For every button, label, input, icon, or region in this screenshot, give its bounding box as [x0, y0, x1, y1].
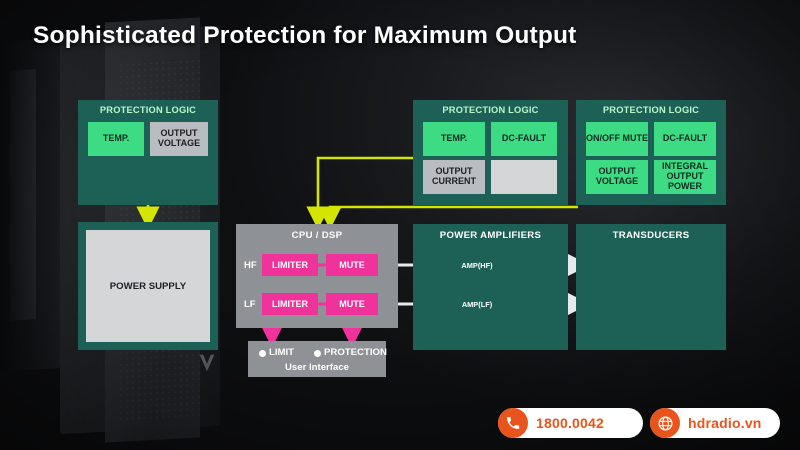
limiter-hf: LIMITER: [262, 254, 318, 276]
protection-indicator-label: PROTECTION: [324, 347, 387, 358]
chip-placeholder: [491, 160, 557, 194]
psu-protection-logic-block: PROTECTION LOGIC TEMP. OUTPUT VOLTAGE: [78, 100, 218, 205]
chip-temp: TEMP.: [423, 122, 485, 156]
user-interface-block: LIMIT PROTECTION User Interface: [248, 341, 386, 377]
chip-dc-fault: DC-FAULT: [491, 122, 557, 156]
website-badge[interactable]: hdradio.vn: [650, 408, 780, 438]
limit-indicator-dot: [259, 350, 266, 357]
phone-icon: [498, 408, 528, 438]
chip-output-current: OUTPUT CURRENT: [423, 160, 485, 194]
power-supply-block: POWER SUPPLY: [78, 222, 218, 350]
chip-dc-fault: DC-FAULT: [654, 122, 716, 156]
protection-logic-title: PROTECTION LOGIC: [78, 105, 218, 115]
power-amplifiers-title: POWER AMPLIFIERS: [413, 230, 568, 241]
limiter-lf: LIMITER: [262, 293, 318, 315]
user-interface-caption: User Interface: [248, 362, 386, 373]
chip-temp: TEMP.: [88, 122, 144, 156]
amp-lf-label: AMP(LF): [462, 297, 492, 311]
transducers-block: TRANSDUCERS: [576, 224, 726, 350]
transducer-protection-logic-block: PROTECTION LOGIC ON/OFF MUTE DC-FAULT OU…: [576, 100, 726, 205]
globe-icon: [650, 408, 680, 438]
power-amplifiers-block: POWER AMPLIFIERS: [413, 224, 568, 350]
chip-output-voltage: OUTPUT VOLTAGE: [586, 160, 648, 194]
chip-integral-output-power: INTEGRAL OUTPUT POWER: [654, 160, 716, 194]
cpu-dsp-title: CPU / DSP: [236, 230, 398, 241]
limit-indicator-label: LIMIT: [269, 347, 294, 358]
mute-lf: MUTE: [326, 293, 378, 315]
protection-indicator-dot: [314, 350, 321, 357]
protection-logic-title: PROTECTION LOGIC: [576, 105, 726, 115]
website-url: hdradio.vn: [680, 415, 776, 431]
amp-hf-label: AMP(HF): [462, 258, 492, 272]
power-supply-label: POWER SUPPLY: [110, 281, 186, 292]
channel-label-hf: HF: [244, 260, 257, 271]
chip-output-voltage: OUTPUT VOLTAGE: [150, 122, 208, 156]
phone-badge[interactable]: 1800.0042: [498, 408, 643, 438]
chip-onoff-mute: ON/OFF MUTE: [586, 122, 648, 156]
protection-logic-title: PROTECTION LOGIC: [413, 105, 568, 115]
channel-label-lf: LF: [244, 299, 256, 310]
transducers-title: TRANSDUCERS: [576, 230, 726, 241]
phone-number: 1800.0042: [528, 415, 618, 431]
amp-protection-logic-block: PROTECTION LOGIC TEMP. DC-FAULT OUTPUT C…: [413, 100, 568, 205]
mute-hf: MUTE: [326, 254, 378, 276]
